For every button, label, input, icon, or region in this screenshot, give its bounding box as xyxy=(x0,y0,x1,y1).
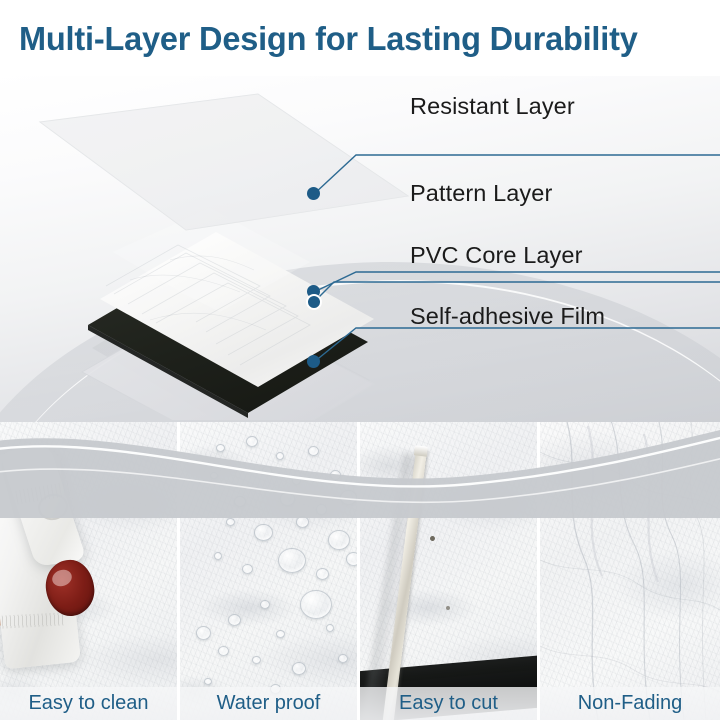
feature-panel-non-fading[interactable]: Non-Fading xyxy=(540,418,720,720)
callout-connector-resistant xyxy=(300,110,720,240)
feature-panel-row: Easy to clean xyxy=(0,418,720,720)
water-droplet xyxy=(328,530,350,550)
water-droplet xyxy=(300,590,332,619)
blade-tip xyxy=(414,445,428,457)
callout-label-self-adhesive: Self-adhesive Film xyxy=(410,303,605,330)
water-droplet xyxy=(254,524,273,541)
marble-veins xyxy=(540,418,720,720)
water-droplet xyxy=(280,492,295,506)
caption-non-fading: Non-Fading xyxy=(540,687,720,720)
water-droplet xyxy=(204,678,212,685)
caption-easy-to-clean: Easy to clean xyxy=(0,687,177,720)
water-droplet xyxy=(242,564,253,574)
blade-speck xyxy=(446,606,450,610)
layer-diagram-section: Resistant Layer Pattern Layer PVC Core L… xyxy=(0,72,720,422)
water-droplet xyxy=(340,490,357,505)
water-droplet xyxy=(308,446,319,456)
page-title: Multi-Layer Design for Lasting Durabilit… xyxy=(19,20,709,58)
water-droplet xyxy=(338,654,348,663)
photo-easy-to-clean xyxy=(0,418,177,720)
callout-dot-pvc-core[interactable] xyxy=(306,294,322,310)
water-droplet xyxy=(246,436,258,447)
water-droplet xyxy=(210,472,218,479)
water-droplet xyxy=(218,646,229,656)
feature-panel-easy-to-clean[interactable]: Easy to clean xyxy=(0,418,180,720)
callout-dot-resistant[interactable] xyxy=(307,187,320,200)
water-droplet xyxy=(316,504,327,515)
photo-easy-to-cut xyxy=(360,418,537,720)
water-droplet xyxy=(228,614,241,626)
water-droplet xyxy=(260,600,270,609)
callout-label-resistant: Resistant Layer xyxy=(410,93,575,120)
water-droplet xyxy=(316,568,329,580)
water-droplet xyxy=(276,452,284,460)
water-droplet xyxy=(196,626,211,640)
stone-texture xyxy=(180,418,357,720)
feature-panel-easy-to-cut[interactable]: Easy to cut xyxy=(360,418,540,720)
water-droplet xyxy=(330,470,341,480)
callout-label-pattern: Pattern Layer xyxy=(410,180,552,207)
water-droplet xyxy=(292,662,306,675)
water-droplet xyxy=(278,548,306,573)
photo-water-proof xyxy=(180,418,357,720)
water-droplet xyxy=(216,444,225,452)
photo-non-fading xyxy=(540,418,720,720)
water-droplet xyxy=(214,552,222,560)
water-droplet xyxy=(296,516,309,528)
water-droplet xyxy=(346,552,357,566)
water-droplet xyxy=(292,476,301,485)
product-feature-infographic: Resistant Layer Pattern Layer PVC Core L… xyxy=(0,0,720,720)
callout-dot-self-adhesive[interactable] xyxy=(307,355,320,368)
water-droplet xyxy=(262,466,272,475)
water-droplet xyxy=(226,518,235,526)
water-droplet xyxy=(234,496,246,507)
water-droplet xyxy=(326,624,334,632)
title-bar: Multi-Layer Design for Lasting Durabilit… xyxy=(0,0,720,76)
callout-label-pvc-core: PVC Core Layer xyxy=(410,242,583,269)
feature-panel-water-proof[interactable]: Water proof xyxy=(180,418,360,720)
water-droplet xyxy=(252,656,261,664)
caption-water-proof: Water proof xyxy=(180,687,357,720)
caption-easy-to-cut: Easy to cut xyxy=(360,687,537,720)
water-droplet xyxy=(276,630,285,638)
